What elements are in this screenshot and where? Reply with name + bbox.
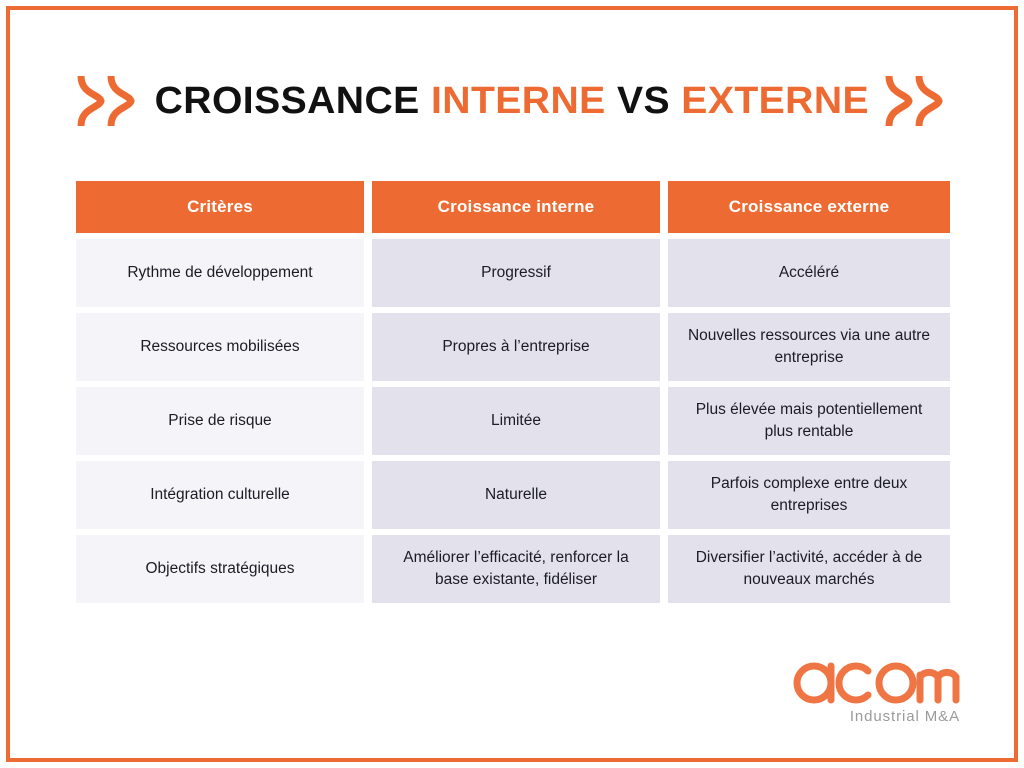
table-header-cell-interne: Croissance interne [372,181,660,233]
table-cell-criterion: Intégration culturelle [76,461,364,529]
table-cell-interne: Améliorer l’efficacité, renforcer la bas… [372,535,660,603]
logo-tagline: Industrial M&A [792,709,960,724]
title-word-croissance: CROISSANCE [155,80,420,122]
slide-canvas: CROISSANCE INTERNE VS EXTERNE Critères C… [0,0,1024,768]
title-word-vs: VS [617,80,670,122]
table-row: Prise de risque Limitée Plus élevée mais… [76,387,948,455]
table-cell-interne: Limitée [372,387,660,455]
table-cell-interne: Propres à l’entreprise [372,313,660,381]
table-cell-interne: Naturelle [372,461,660,529]
comparison-table: Critères Croissance interne Croissance e… [76,181,948,603]
brand-logo: Industrial M&A [792,653,960,724]
table-row: Intégration culturelle Naturelle Parfois… [76,461,948,529]
table-row: Objectifs stratégiques Améliorer l’effic… [76,535,948,603]
table-cell-externe: Plus élevée mais potentiellement plus re… [668,387,950,455]
table-cell-externe: Parfois complexe entre deux entreprises [668,461,950,529]
title-word-externe: EXTERNE [681,80,869,122]
acom-wordmark-icon [792,653,960,705]
table-cell-externe: Nouvelles ressources via une autre entre… [668,313,950,381]
table-header-cell-criteres: Critères [76,181,364,233]
table-cell-externe: Diversifier l’activité, accéder à de nou… [668,535,950,603]
table-cell-externe: Accéléré [668,239,950,307]
table-header-row: Critères Croissance interne Croissance e… [76,181,948,233]
table-cell-criterion: Objectifs stratégiques [76,535,364,603]
page-title: CROISSANCE INTERNE VS EXTERNE [155,80,869,123]
double-chevron-right-icon [77,73,139,129]
title-bar: CROISSANCE INTERNE VS EXTERNE [0,66,1024,136]
table-row: Ressources mobilisées Propres à l’entrep… [76,313,948,381]
table-row: Rythme de développement Progressif Accél… [76,239,948,307]
table-cell-criterion: Rythme de développement [76,239,364,307]
double-chevron-right-icon [885,73,947,129]
table-cell-criterion: Ressources mobilisées [76,313,364,381]
table-cell-interne: Progressif [372,239,660,307]
table-header-cell-externe: Croissance externe [668,181,950,233]
table-cell-criterion: Prise de risque [76,387,364,455]
title-word-interne: INTERNE [431,80,606,122]
